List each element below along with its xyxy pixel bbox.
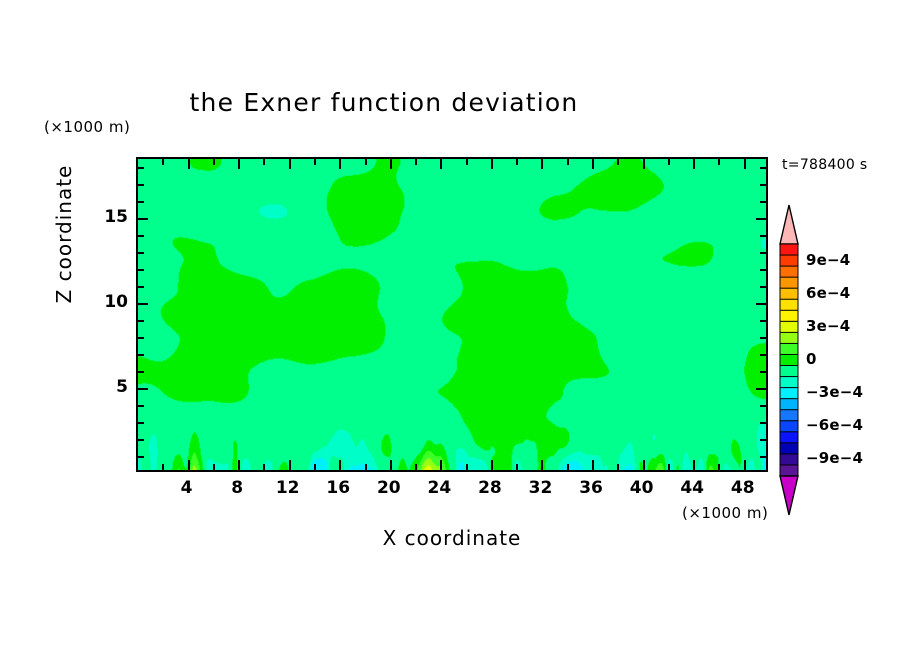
colorbar-swatch xyxy=(780,244,798,256)
y-axis-tick-minor xyxy=(760,422,766,424)
colorbar-swatch xyxy=(780,399,798,411)
x-axis-tick-label: 8 xyxy=(217,478,257,498)
x-axis-tick-label: 36 xyxy=(571,478,611,498)
y-axis-tick-minor xyxy=(760,269,766,271)
x-axis-tick-major xyxy=(238,460,240,470)
y-axis-tick-minor xyxy=(138,456,144,458)
colorbar-swatch xyxy=(780,388,798,400)
colorbar-tick-label: −9e−4 xyxy=(806,449,863,467)
x-axis-tick-label: 12 xyxy=(268,478,308,498)
x-axis-tick-minor xyxy=(567,159,569,165)
colorbar-swatch xyxy=(780,310,798,322)
y-axis-title: Z coordinate xyxy=(52,134,76,334)
x-axis-tick-label: 40 xyxy=(622,478,662,498)
colorbar-tick-label: 6e−4 xyxy=(806,284,850,302)
x-axis-tick-minor xyxy=(213,159,215,165)
x-axis-tick-major xyxy=(744,460,746,470)
time-stamp-annotation: t=788400 s xyxy=(782,157,867,173)
colorbar-swatch xyxy=(780,354,798,366)
x-axis-tick-minor xyxy=(516,464,518,470)
y-axis-tick-minor xyxy=(760,235,766,237)
y-axis-tick-minor xyxy=(138,354,144,356)
colorbar-swatch xyxy=(780,377,798,389)
colorbar-extend-top xyxy=(780,205,798,244)
colorbar-swatch xyxy=(780,266,798,278)
y-axis-tick-minor xyxy=(138,422,144,424)
y-axis-tick-major xyxy=(138,218,148,220)
figure-canvas: the Exner function deviation (×1000 m) Z… xyxy=(0,0,904,654)
x-axis-tick-label: 24 xyxy=(419,478,459,498)
x-axis-tick-minor xyxy=(718,464,720,470)
x-axis-tick-minor xyxy=(365,159,367,165)
x-axis-tick-major xyxy=(238,159,240,169)
x-axis-tick-minor xyxy=(314,159,316,165)
y-axis-tick-minor xyxy=(760,439,766,441)
colorbar-swatch xyxy=(780,332,798,344)
y-axis-tick-minor xyxy=(138,252,144,254)
x-axis-tick-minor xyxy=(263,464,265,470)
x-axis-tick-minor xyxy=(617,159,619,165)
x-axis-title: X coordinate xyxy=(136,526,768,550)
colorbar-swatch xyxy=(780,343,798,355)
y-axis-tick-minor xyxy=(138,184,144,186)
y-axis-tick-minor xyxy=(760,337,766,339)
colorbar-tick-label: −6e−4 xyxy=(806,416,863,434)
x-axis-tick-minor xyxy=(617,464,619,470)
page-title: the Exner function deviation xyxy=(0,88,768,117)
x-axis-tick-minor xyxy=(718,159,720,165)
colorbar-tick-label: 0 xyxy=(806,350,817,368)
y-axis-tick-major xyxy=(756,388,766,390)
x-axis-tick-major xyxy=(693,460,695,470)
x-axis-tick-major xyxy=(491,159,493,169)
colorbar-extend-bottom xyxy=(780,476,798,515)
y-axis-tick-minor xyxy=(760,320,766,322)
x-axis-tick-minor xyxy=(213,464,215,470)
x-axis-tick-major xyxy=(541,159,543,169)
colorbar-swatches xyxy=(779,204,799,516)
x-axis-tick-minor xyxy=(365,464,367,470)
y-axis-tick-major xyxy=(756,218,766,220)
x-axis-tick-major xyxy=(693,159,695,169)
x-axis-tick-major xyxy=(188,460,190,470)
y-axis-tick-minor xyxy=(138,269,144,271)
x-axis-tick-minor xyxy=(162,464,164,470)
y-axis-tick-label: 10 xyxy=(96,292,128,312)
colorbar-swatch xyxy=(780,454,798,466)
x-axis-tick-major xyxy=(744,159,746,169)
x-axis-tick-major xyxy=(289,159,291,169)
x-axis-tick-minor xyxy=(263,159,265,165)
colorbar xyxy=(779,204,799,516)
colorbar-swatch xyxy=(780,277,798,289)
colorbar-tick-label: 3e−4 xyxy=(806,317,850,335)
x-axis-tick-major xyxy=(592,460,594,470)
colorbar-swatch xyxy=(780,421,798,433)
x-axis-tick-major xyxy=(339,159,341,169)
colorbar-swatch xyxy=(780,255,798,267)
y-axis-tick-minor xyxy=(138,320,144,322)
colorbar-swatch xyxy=(780,410,798,422)
x-axis-tick-major xyxy=(541,460,543,470)
colorbar-tick-label: 9e−4 xyxy=(806,251,850,269)
x-axis-tick-label: 28 xyxy=(470,478,510,498)
x-axis-tick-major xyxy=(440,159,442,169)
colorbar-swatch xyxy=(780,299,798,311)
colorbar-swatch xyxy=(780,288,798,300)
y-axis-tick-minor xyxy=(138,167,144,169)
y-axis-tick-minor xyxy=(760,286,766,288)
x-axis-tick-minor xyxy=(668,464,670,470)
y-axis-tick-major xyxy=(138,303,148,305)
x-axis-tick-label: 32 xyxy=(520,478,560,498)
y-axis-tick-minor xyxy=(760,405,766,407)
x-axis-tick-major xyxy=(390,159,392,169)
x-axis-tick-label: 48 xyxy=(723,478,763,498)
colorbar-swatch xyxy=(780,321,798,333)
y-axis-tick-minor xyxy=(138,235,144,237)
x-axis-tick-label: 44 xyxy=(672,478,712,498)
y-axis-tick-minor xyxy=(138,405,144,407)
x-axis-unit-label: (×1000 m) xyxy=(682,504,768,522)
x-axis-tick-label: 20 xyxy=(369,478,409,498)
y-axis-tick-minor xyxy=(760,354,766,356)
colorbar-swatch xyxy=(780,465,798,477)
x-axis-tick-label: 4 xyxy=(167,478,207,498)
y-axis-tick-major xyxy=(138,388,148,390)
colorbar-tick-label: −3e−4 xyxy=(806,383,863,401)
x-axis-tick-minor xyxy=(567,464,569,470)
x-axis-tick-label: 16 xyxy=(318,478,358,498)
colorbar-swatch xyxy=(780,366,798,378)
x-axis-tick-major xyxy=(643,159,645,169)
x-axis-tick-minor xyxy=(668,159,670,165)
x-axis-tick-minor xyxy=(162,159,164,165)
y-axis-tick-minor xyxy=(760,167,766,169)
y-axis-tick-minor xyxy=(760,252,766,254)
y-axis-tick-minor xyxy=(138,371,144,373)
x-axis-tick-major xyxy=(188,159,190,169)
x-axis-tick-minor xyxy=(466,159,468,165)
y-axis-tick-minor xyxy=(138,439,144,441)
y-axis-tick-label: 15 xyxy=(96,207,128,227)
y-axis-tick-label: 5 xyxy=(96,377,128,397)
x-axis-tick-major xyxy=(491,460,493,470)
x-axis-tick-minor xyxy=(516,159,518,165)
contour-plot-area xyxy=(136,157,768,472)
y-axis-tick-minor xyxy=(138,201,144,203)
x-axis-tick-minor xyxy=(466,464,468,470)
x-axis-tick-minor xyxy=(415,159,417,165)
x-axis-tick-minor xyxy=(314,464,316,470)
y-axis-tick-minor xyxy=(138,337,144,339)
y-axis-tick-major xyxy=(756,303,766,305)
y-axis-tick-minor xyxy=(760,201,766,203)
colorbar-swatch xyxy=(780,432,798,444)
x-axis-tick-major xyxy=(390,460,392,470)
x-axis-tick-minor xyxy=(415,464,417,470)
y-axis-tick-minor xyxy=(760,371,766,373)
x-axis-tick-major xyxy=(643,460,645,470)
x-axis-tick-major xyxy=(339,460,341,470)
y-axis-tick-minor xyxy=(138,286,144,288)
y-axis-tick-minor xyxy=(760,456,766,458)
contour-field xyxy=(138,159,766,470)
y-axis-tick-minor xyxy=(760,184,766,186)
colorbar-swatch xyxy=(780,443,798,455)
x-axis-tick-major xyxy=(592,159,594,169)
x-axis-tick-major xyxy=(289,460,291,470)
x-axis-tick-major xyxy=(440,460,442,470)
